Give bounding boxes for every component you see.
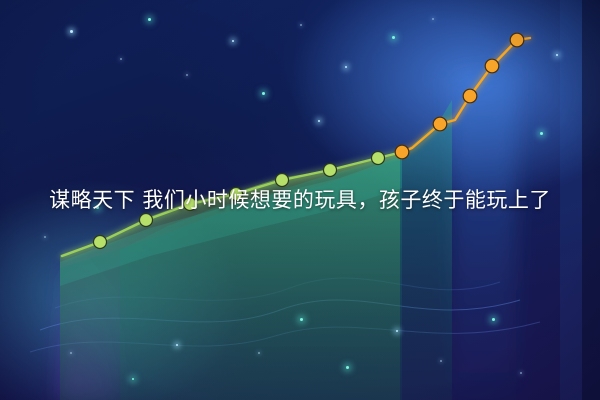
sparkle-dot <box>345 66 347 68</box>
sparkle-dot <box>300 318 303 321</box>
sparkle-dot <box>186 74 188 76</box>
sparkle-dot <box>176 344 178 346</box>
sparkle-dot <box>258 352 260 354</box>
sparkle-dot <box>556 54 558 56</box>
sparkle-dot <box>96 206 99 209</box>
sparkle-dot <box>346 366 349 369</box>
sparkle-dot <box>70 352 72 354</box>
sparkle-dot <box>70 30 73 33</box>
sparkle-dot <box>44 236 46 238</box>
sparkle-dot <box>148 18 151 21</box>
sparkle-dot <box>432 18 434 20</box>
sparkle-layer <box>0 0 600 400</box>
sparkle-dot <box>520 372 522 374</box>
sparkle-dot <box>392 36 395 39</box>
sparkle-dot <box>492 318 495 321</box>
sparkle-dot <box>262 92 265 95</box>
sparkle-dot <box>396 330 398 332</box>
sparkle-dot <box>232 40 234 42</box>
sparkle-dot <box>318 120 320 122</box>
sparkle-dot <box>120 58 122 60</box>
sparkle-dot <box>132 378 134 380</box>
sparkle-dot <box>540 132 543 135</box>
promo-chart-image: 谋略天下 我们小时候想要的玩具，孩子终于能玩上了 <box>0 0 600 400</box>
sparkle-dot <box>300 24 302 26</box>
sparkle-dot <box>440 360 442 362</box>
